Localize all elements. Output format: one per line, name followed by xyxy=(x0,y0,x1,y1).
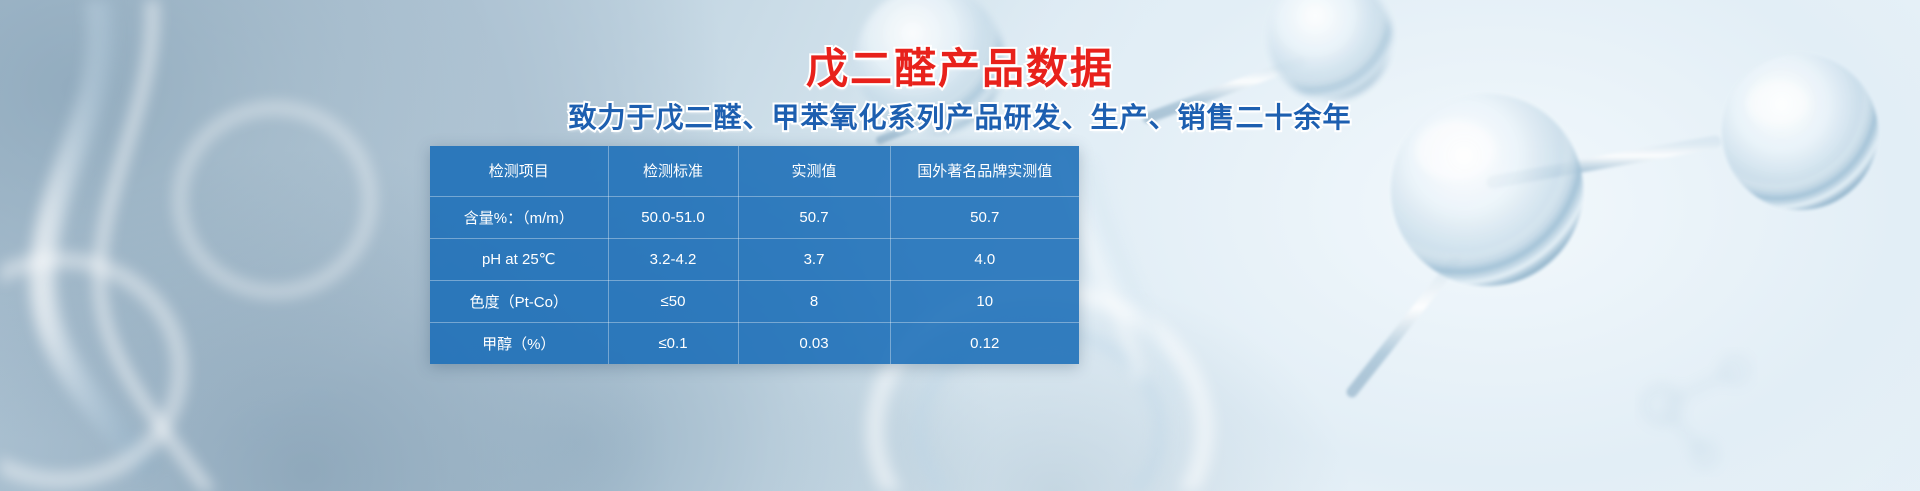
cell-test-standard: 3.2-4.2 xyxy=(608,238,738,280)
cell-measured-value: 0.03 xyxy=(738,322,890,364)
product-data-banner: 戊二醛产品数据 致力于戊二醛、甲苯氧化系列产品研发、生产、销售二十余年 检测项目… xyxy=(0,0,1920,491)
column-header-test-standard: 检测标准 xyxy=(608,146,738,196)
table-row: 含量%：（m/m） 50.0-51.0 50.7 50.7 xyxy=(430,196,1079,238)
cell-measured-value: 8 xyxy=(738,280,890,322)
table-head: 检测项目 检测标准 实测值 国外著名品牌实测值 xyxy=(430,146,1079,196)
cell-measured-value: 3.7 xyxy=(738,238,890,280)
cell-foreign-value: 10 xyxy=(890,280,1079,322)
cell-test-item: pH at 25℃ xyxy=(430,238,608,280)
table-row: 甲醇（%） ≤0.1 0.03 0.12 xyxy=(430,322,1079,364)
product-data-table-wrapper: 检测项目 检测标准 实测值 国外著名品牌实测值 含量%：（m/m） 50.0-5… xyxy=(430,146,1079,364)
table-body: 含量%：（m/m） 50.0-51.0 50.7 50.7 pH at 25℃ … xyxy=(430,196,1079,364)
column-header-test-item: 检测项目 xyxy=(430,146,608,196)
column-header-foreign-brand: 国外著名品牌实测值 xyxy=(890,146,1079,196)
table-row: 色度（Pt-Co） ≤50 8 10 xyxy=(430,280,1079,322)
cell-test-standard: ≤50 xyxy=(608,280,738,322)
page-title: 戊二醛产品数据 xyxy=(0,48,1920,90)
page-subtitle: 致力于戊二醛、甲苯氧化系列产品研发、生产、销售二十余年 xyxy=(0,104,1920,132)
product-data-table: 检测项目 检测标准 实测值 国外著名品牌实测值 含量%：（m/m） 50.0-5… xyxy=(430,146,1079,364)
banner-headings: 戊二醛产品数据 致力于戊二醛、甲苯氧化系列产品研发、生产、销售二十余年 xyxy=(0,48,1920,132)
cell-test-item: 色度（Pt-Co） xyxy=(430,280,608,322)
cell-test-item: 甲醇（%） xyxy=(430,322,608,364)
table-row: pH at 25℃ 3.2-4.2 3.7 4.0 xyxy=(430,238,1079,280)
cell-foreign-value: 0.12 xyxy=(890,322,1079,364)
cell-measured-value: 50.7 xyxy=(738,196,890,238)
cell-foreign-value: 4.0 xyxy=(890,238,1079,280)
table-header-row: 检测项目 检测标准 实测值 国外著名品牌实测值 xyxy=(430,146,1079,196)
cell-foreign-value: 50.7 xyxy=(890,196,1079,238)
cell-test-standard: 50.0-51.0 xyxy=(608,196,738,238)
column-header-measured-value: 实测值 xyxy=(738,146,890,196)
cell-test-standard: ≤0.1 xyxy=(608,322,738,364)
cell-test-item: 含量%：（m/m） xyxy=(430,196,608,238)
